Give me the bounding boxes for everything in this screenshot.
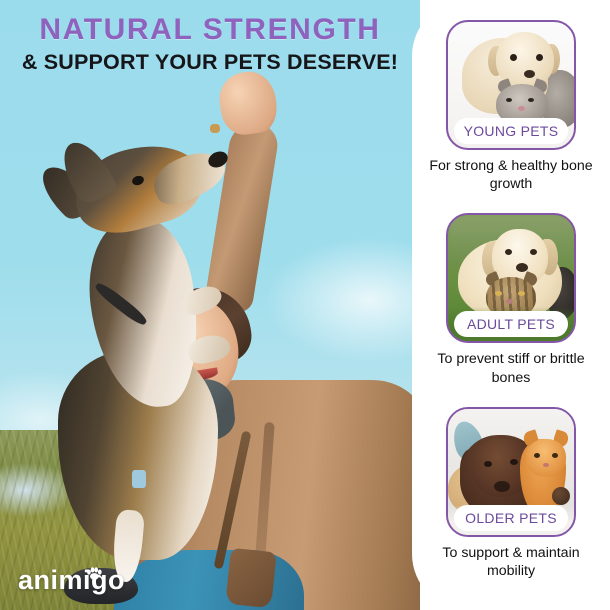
kitten-eye-left: [506, 98, 512, 102]
paw-print-icon: [85, 556, 103, 569]
adult-pets-image-tile: ADULT PETS: [446, 213, 576, 343]
ginger-cat-eye-left: [534, 453, 540, 458]
puppy-eye-left: [510, 54, 517, 61]
labrador-nose: [494, 481, 510, 492]
adult-pets-label: ADULT PETS: [467, 316, 555, 332]
benefit-card-young-pets[interactable]: YOUNG PETS For strong & healthy bone gro…: [426, 20, 596, 193]
young-pets-label: YOUNG PETS: [464, 123, 559, 139]
hero-photo: NATURAL STRENGTH & SUPPORT YOUR PETS DES…: [0, 0, 420, 610]
dog-collar-tag: [132, 470, 146, 488]
puppy-eye-right: [536, 54, 543, 61]
ginger-cat-nose: [543, 463, 549, 467]
headline: NATURAL STRENGTH & SUPPORT YOUR PETS DES…: [0, 14, 420, 73]
older-pets-label: OLDER PETS: [465, 510, 557, 526]
adult-pets-label-pill: ADULT PETS: [454, 311, 568, 337]
benefit-card-list: YOUNG PETS For strong & healthy bone gro…: [412, 0, 610, 610]
labrador-eye-left: [484, 461, 492, 467]
promotional-poster: NATURAL STRENGTH & SUPPORT YOUR PETS DES…: [0, 0, 610, 610]
older-pets-image-tile: OLDER PETS: [446, 407, 576, 537]
kitten-eye-right: [528, 98, 534, 102]
headline-line-1: NATURAL STRENGTH: [0, 14, 420, 46]
benefit-card-adult-pets[interactable]: ADULT PETS To prevent stiff or brittle b…: [426, 213, 596, 386]
animigo-logo: animigo: [18, 565, 125, 596]
dog-treat: [210, 124, 220, 133]
corgi-dog: [48, 140, 248, 560]
adult-pets-caption: To prevent stiff or brittle bones: [423, 350, 599, 386]
toy-ball: [552, 487, 570, 505]
puppy-nose: [524, 70, 535, 78]
benefits-panel: YOUNG PETS For strong & healthy bone gro…: [412, 0, 610, 610]
ginger-cat-eye-right: [552, 453, 558, 458]
kitten-nose: [518, 106, 525, 111]
young-pets-label-pill: YOUNG PETS: [454, 118, 568, 144]
young-pets-image-tile: YOUNG PETS: [446, 20, 576, 150]
older-pets-caption: To support & maintain mobility: [423, 544, 599, 580]
older-pets-label-pill: OLDER PETS: [454, 505, 568, 531]
young-pets-caption: For strong & healthy bone growth: [423, 157, 599, 193]
headline-line-2: & SUPPORT YOUR PETS DESERVE!: [0, 51, 420, 74]
labrador-eye-right: [510, 459, 518, 465]
ginger-cat-head: [526, 439, 566, 477]
benefit-card-older-pets[interactable]: OLDER PETS To support & maintain mobilit…: [426, 407, 596, 580]
logo-wordmark: animigo: [18, 565, 125, 595]
